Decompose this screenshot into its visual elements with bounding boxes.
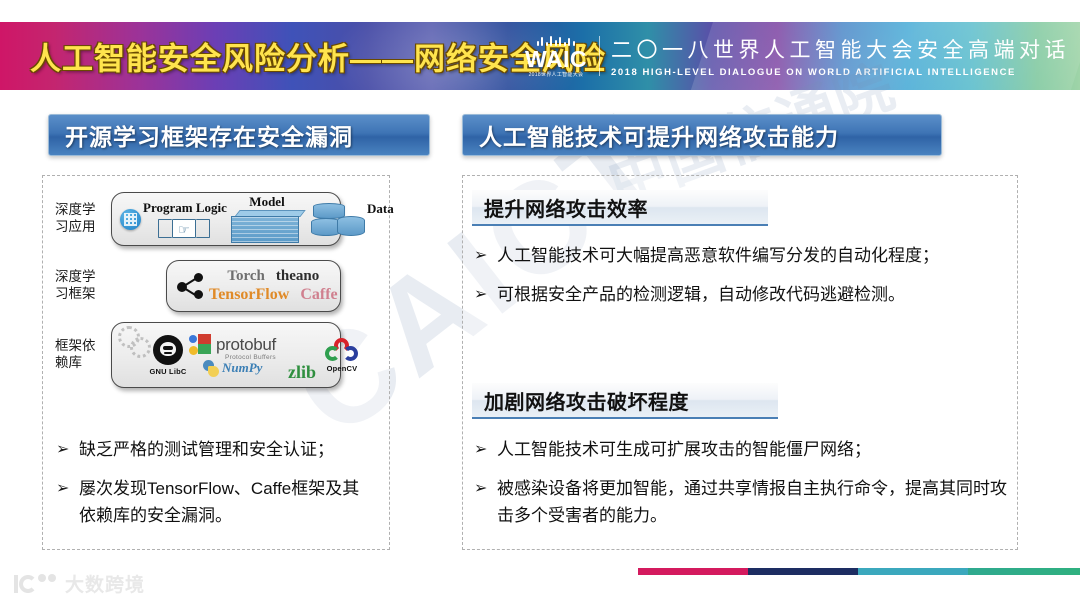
diagram-card-frameworks: Torch theano TensorFlow Caffe	[166, 260, 341, 312]
open-book-icon: ☞	[158, 217, 210, 238]
bullet-arrow-icon: ➢	[474, 243, 497, 267]
data-group: Data	[309, 201, 394, 237]
right-panel-heading-label: 人工智能技术可提升网络攻击能力	[479, 118, 839, 152]
tensorflow-label: TensorFlow	[209, 285, 289, 305]
list-item: ➢ 缺乏严格的测试管理和安全认证；	[56, 437, 376, 463]
footer-color-bar	[638, 568, 1080, 575]
footer-brand-label: 大数跨境	[65, 570, 145, 597]
section-heading-efficiency-label: 提升网络攻击效率	[484, 193, 648, 222]
bullet-text: 缺乏严格的测试管理和安全认证；	[79, 437, 334, 463]
list-item: ➢ 可根据安全产品的检测逻辑，自动修改代码逃避检测。	[474, 282, 1008, 308]
gnu-libc-label: GNU LibC	[149, 367, 187, 376]
protobuf-top: protobuf	[189, 334, 276, 356]
bullet-arrow-icon: ➢	[474, 282, 497, 306]
framework-line-1: Torch theano	[209, 267, 338, 286]
python-snake-icon	[203, 360, 220, 377]
footer-bar-segment-3	[858, 568, 968, 575]
section-bullet-list-efficiency: ➢ 人工智能技术可大幅提高恶意软件编写分发的自动化程度； ➢ 可根据安全产品的检…	[474, 243, 1008, 322]
diagram-row-frameworks: 深度学 习框架 Torch theano TensorFlow Caffe	[55, 260, 341, 312]
list-item: ➢ 人工智能技术可大幅提高恶意软件编写分发的自动化程度；	[474, 243, 1008, 269]
waic-divider	[599, 36, 600, 76]
left-panel-heading: 开源学习框架存在安全漏洞	[48, 114, 430, 156]
section-heading-damage-label: 加剧网络攻击破坏程度	[484, 386, 689, 415]
bullet-arrow-icon: ➢	[474, 476, 497, 500]
zlib-label: zlib	[288, 362, 316, 383]
list-item: ➢ 屡次发现TensorFlow、Caffe框架及其依赖库的安全漏洞。	[56, 476, 376, 529]
diagram-row-label-frameworks: 深度学 习框架	[55, 269, 111, 303]
gnu-libc-group: GNU LibC	[149, 335, 187, 376]
section-heading-damage: 加剧网络攻击破坏程度	[472, 383, 778, 419]
numpy-label: NumPy	[222, 360, 262, 376]
grid-dot-icon	[120, 209, 141, 230]
section-heading-efficiency: 提升网络攻击效率	[472, 190, 768, 226]
opencv-label: OpenCV	[322, 364, 362, 373]
program-logic-label: Program Logic	[143, 200, 225, 216]
framework-line-2: TensorFlow Caffe	[209, 285, 338, 305]
left-panel-bullet-list: ➢ 缺乏严格的测试管理和安全认证； ➢ 屡次发现TensorFlow、Caffe…	[56, 437, 376, 542]
section-bullet-list-damage: ➢ 人工智能技术可生成可扩展攻击的智能僵尸网络； ➢ 被感染设备将更加智能，通过…	[474, 437, 1008, 542]
caffe-label: Caffe	[300, 285, 337, 305]
data-label: Data	[367, 201, 394, 217]
database-cylinder-icon	[309, 201, 365, 237]
network-share-icon	[177, 273, 203, 299]
bullet-text: 屡次发现TensorFlow、Caffe框架及其依赖库的安全漏洞。	[79, 476, 376, 529]
conference-name-cn: 二〇一八世界人工智能大会安全高端对话	[611, 34, 1070, 64]
left-panel-heading-label: 开源学习框架存在安全漏洞	[65, 118, 353, 152]
bullet-arrow-icon: ➢	[474, 437, 497, 461]
conference-name-en: 2018 HIGH-LEVEL DIALOGUE ON WORLD ARTIFI…	[611, 67, 1070, 78]
header-banner: 人工智能安全风险分析——网络安全风险 WAIC 2018世界人工智能大会 二〇一…	[0, 22, 1080, 90]
protobuf-label: protobuf	[216, 335, 276, 355]
diagram-row-dependencies: 框架依 赖库 GNU LibC protobuf Protocol Buffer…	[55, 322, 341, 388]
opencv-group: OpenCV	[322, 338, 362, 373]
page-title: 人工智能安全风险分析——网络安全风险	[30, 34, 606, 79]
list-item: ➢ 人工智能技术可生成可扩展攻击的智能僵尸网络；	[474, 437, 1008, 463]
waic-logo-group: WAIC 2018世界人工智能大会 二〇一八世界人工智能大会安全高端对话 201…	[525, 34, 1070, 78]
waic-ticks-icon	[537, 35, 575, 46]
model-label: Model	[227, 194, 307, 210]
bullet-text: 人工智能技术可大幅提高恶意软件编写分发的自动化程度；	[497, 243, 939, 269]
model-group: Model	[227, 194, 307, 244]
gnu-gnu-head-icon	[153, 335, 183, 365]
bullet-arrow-icon: ➢	[56, 437, 79, 461]
diagram-row-applications: 深度学 习应用 Program Logic ☞ Model Data	[55, 192, 341, 246]
gears-icon	[118, 326, 148, 356]
footer-bar-segment-2	[748, 568, 858, 575]
protobuf-group: protobuf Protocol Buffers NumPy	[189, 334, 276, 377]
waic-logo: WAIC 2018世界人工智能大会	[525, 35, 599, 78]
footer-bar-segment-4	[968, 568, 1080, 575]
framework-names: Torch theano TensorFlow Caffe	[209, 267, 338, 306]
waic-wordmark: WAIC	[525, 48, 587, 71]
opencv-icon	[323, 338, 361, 362]
footer-brand-icon	[14, 574, 58, 594]
diagram-card-dependencies: GNU LibC protobuf Protocol Buffers NumPy…	[111, 322, 341, 388]
program-logic-group: Program Logic ☞	[143, 200, 225, 238]
theano-label: theano	[276, 267, 319, 286]
waic-logo-caption: 2018世界人工智能大会	[529, 73, 584, 78]
diagram-row-label-dependencies: 框架依 赖库	[55, 338, 111, 372]
numpy-group: NumPy	[203, 360, 276, 377]
list-item: ➢ 被感染设备将更加智能，通过共享情报自主执行命令，提高其同时攻击多个受害者的能…	[474, 476, 1008, 529]
protobuf-icon	[189, 334, 213, 356]
diagram-card-applications: Program Logic ☞ Model Data	[111, 192, 341, 246]
bullet-arrow-icon: ➢	[56, 476, 79, 500]
bullet-text: 人工智能技术可生成可扩展攻击的智能僵尸网络；	[497, 437, 871, 463]
footer-bar-segment-1	[638, 568, 748, 575]
server-box-icon	[231, 210, 307, 244]
bullet-text: 可根据安全产品的检测逻辑，自动修改代码逃避检测。	[497, 282, 905, 308]
diagram-row-label-applications: 深度学 习应用	[55, 202, 111, 236]
torch-label: Torch	[227, 267, 265, 286]
waic-conference-text: 二〇一八世界人工智能大会安全高端对话 2018 HIGH-LEVEL DIALO…	[611, 34, 1070, 78]
right-panel-heading: 人工智能技术可提升网络攻击能力	[462, 114, 942, 156]
footer-brand-logo: 大数跨境	[14, 570, 145, 597]
bullet-text: 被感染设备将更加智能，通过共享情报自主执行命令，提高其同时攻击多个受害者的能力。	[497, 476, 1008, 529]
